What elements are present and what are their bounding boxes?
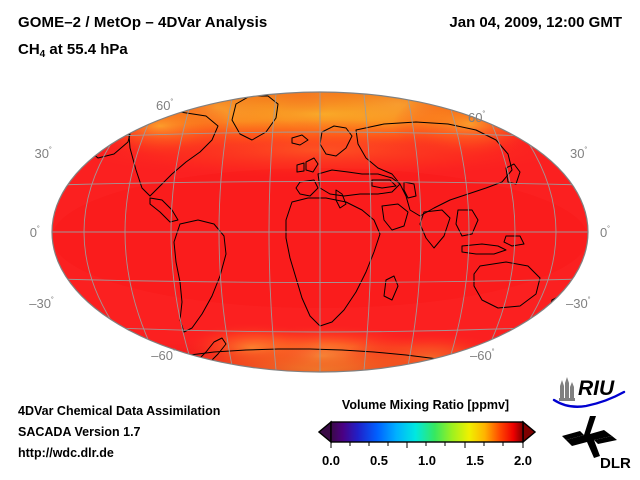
- riu-tower-icon: [559, 377, 575, 401]
- lat-label-left-m60: –60˚: [151, 348, 176, 363]
- colorbar-tick-label-0: 0.0: [322, 453, 340, 468]
- lat-label-left-30: 30˚: [35, 146, 52, 161]
- footer-line-url[interactable]: http://wdc.dlr.de: [18, 443, 220, 464]
- colorbar-tick-label-4: 2.0: [514, 453, 532, 468]
- riu-wordmark: RIU: [578, 377, 615, 400]
- colorbar-gradient: [331, 422, 523, 442]
- species-subscript: 4: [40, 49, 46, 60]
- dlr-logo: DLR: [560, 414, 636, 472]
- lat-label-left-m30: –30˚: [29, 296, 54, 311]
- footer-info: 4DVar Chemical Data Assimilation SACADA …: [18, 401, 220, 464]
- map-panel: 60˚ 30˚ 0˚ –30˚ –60˚ 60˚ 30˚ 0˚: [0, 70, 640, 390]
- lat-label-left-0: 0˚: [30, 225, 40, 240]
- footer-line-project: 4DVar Chemical Data Assimilation: [18, 401, 220, 422]
- colorbar-extend-min-arrow: [319, 422, 331, 442]
- lat-label-right-m30: –30˚: [566, 296, 591, 311]
- colorbar-extend-max-arrow: [523, 422, 535, 442]
- colorbar-tick-label-2: 1.0: [418, 453, 436, 468]
- footer-line-version: SACADA Version 1.7: [18, 422, 220, 443]
- colorbar: Volume Mixing Ratio [ppmv]: [318, 398, 538, 476]
- species-name: CH: [18, 41, 40, 58]
- colorbar-ticks: [331, 442, 523, 448]
- species-level-subtitle: CH4 at 55.4 hPa: [18, 41, 128, 58]
- riu-logo: RIU: [552, 376, 636, 410]
- lat-label-right-0: 0˚: [600, 225, 610, 240]
- colorbar-tick-label-1: 0.5: [370, 453, 388, 468]
- pressure-level: at 55.4 hPa: [45, 41, 128, 58]
- lat-label-right-m60: –60˚: [470, 348, 495, 363]
- dlr-wordmark: DLR: [600, 455, 631, 472]
- dlr-mark-icon: [562, 416, 617, 458]
- lat-label-right-30: 30˚: [570, 146, 587, 161]
- lat-label-left-60: 60˚: [156, 98, 173, 113]
- timestamp: Jan 04, 2009, 12:00 GMT: [449, 14, 622, 31]
- world-map-mollweide: 60˚ 30˚ 0˚ –30˚ –60˚ 60˚ 30˚ 0˚: [0, 70, 640, 390]
- page-title: GOME–2 / MetOp – 4DVar Analysis: [18, 14, 267, 31]
- colorbar-scale: 0.0 0.5 1.0 1.5 2.0: [318, 420, 536, 474]
- colorbar-title: Volume Mixing Ratio [ppmv]: [318, 398, 533, 412]
- colorbar-tick-label-3: 1.5: [466, 453, 484, 468]
